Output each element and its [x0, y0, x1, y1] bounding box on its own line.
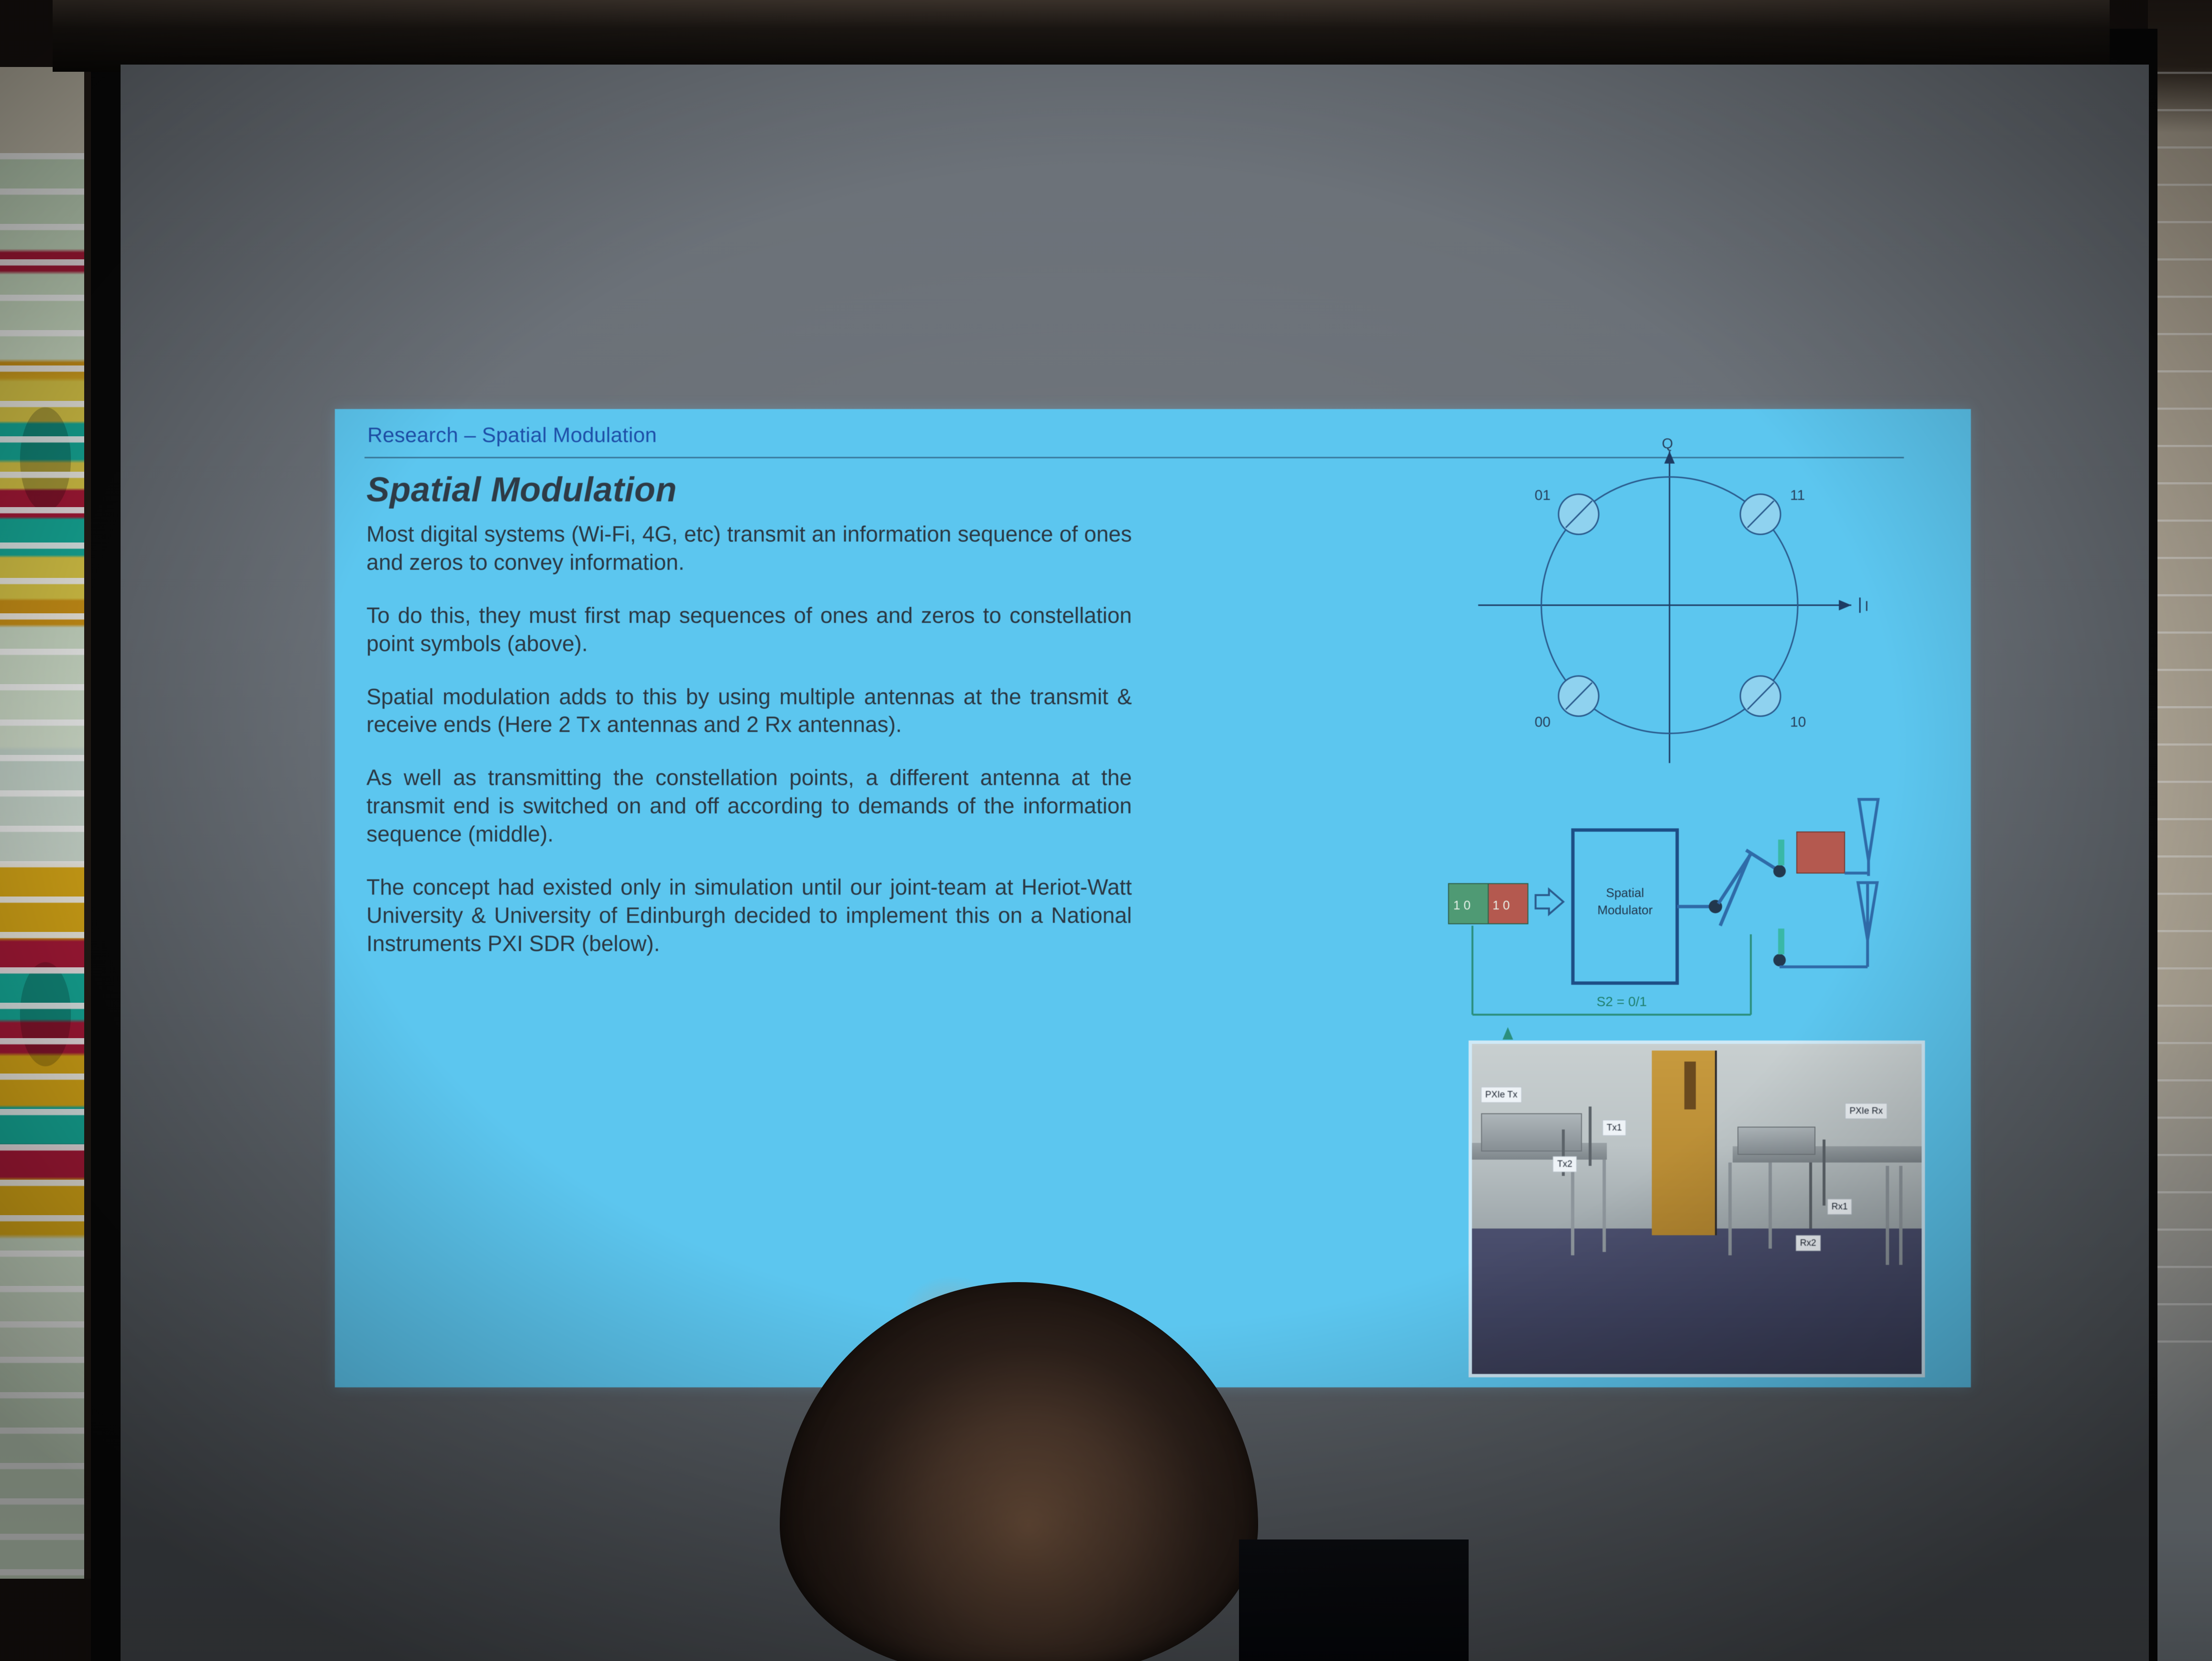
lab-floor [1472, 1229, 1922, 1374]
paragraph-2: To do this, they must first map sequence… [366, 601, 1132, 658]
paragraph-4: As well as transmitting the constellatio… [366, 764, 1132, 848]
constellation-label-11: 11 [1790, 487, 1805, 503]
lab-label-rx2: Rx2 [1796, 1235, 1821, 1251]
photo-scene: Research – Spatial Modulation Spatial Mo… [0, 0, 2212, 1661]
lab-rack-tx [1481, 1113, 1582, 1152]
axis-i-label: I [1865, 598, 1869, 614]
laptop-screen [1239, 1539, 1469, 1661]
slide-eyebrow: Research – Spatial Modulation [367, 423, 657, 447]
spatial-modulator-box: Spatial Modulator [1573, 830, 1677, 983]
window-blinds-right [2149, 72, 2212, 1363]
lab-label-pxie-rx: PXIe Rx [1845, 1103, 1887, 1119]
lab-door [1652, 1051, 1717, 1235]
lab-antenna-tx1 [1589, 1107, 1592, 1166]
lab-bench-leg [1886, 1166, 1889, 1265]
paragraph-3: Spatial modulation adds to this by using… [366, 683, 1132, 739]
modulator-label-line1: Spatial [1606, 886, 1644, 900]
tx-antenna-top [1773, 799, 1878, 877]
lab-label-tx1: Tx1 [1603, 1120, 1626, 1136]
projection-screen-case [53, 0, 2110, 72]
constellation-label-00: 00 [1535, 714, 1550, 730]
window-blinds [0, 153, 91, 1579]
axis-i-arrow [1839, 600, 1851, 610]
svg-text:1 0: 1 0 [1493, 898, 1510, 912]
control-arrow-icon [1503, 1027, 1513, 1040]
axis-q-arrow [1664, 451, 1675, 464]
svg-text:1 0: 1 0 [1453, 898, 1471, 912]
lab-rack-rx [1737, 1127, 1816, 1155]
window-header [0, 67, 91, 153]
input-bitstream: 1 01 0 [1449, 884, 1528, 924]
slide-body: Most digital systems (Wi-Fi, 4G, etc) tr… [366, 520, 1132, 983]
lab-label-pxie-tx: PXIe Tx [1481, 1087, 1522, 1103]
constellation-diagram: Q I 01 11 00 10 [1469, 438, 1880, 773]
lab-bench-leg [1899, 1166, 1902, 1265]
slide-title: Spatial Modulation [366, 470, 677, 509]
lab-bench-leg [1603, 1160, 1606, 1252]
input-arrow-icon [1536, 889, 1563, 914]
stained-glass-window [0, 67, 91, 1579]
rf-switch [1677, 850, 1780, 926]
lab-bench-leg [1769, 1163, 1772, 1248]
lab-antenna-rx1 [1823, 1140, 1825, 1206]
lab-label-tx2: Tx2 [1553, 1156, 1577, 1172]
presentation-slide: Research – Spatial Modulation Spatial Mo… [335, 409, 1971, 1387]
tx-antenna-bottom [1773, 883, 1877, 967]
modulator-label-line2: Modulator [1597, 903, 1653, 917]
constellation-label-01: 01 [1535, 487, 1550, 503]
axis-q-label: Q [1662, 438, 1673, 452]
switch-label: S2 = 0/1 [1596, 994, 1647, 1009]
spatial-modulator-block-diagram: 1 01 0 Spatial Modulator [1445, 782, 1885, 1050]
lab-photograph: PXIe Tx Tx1 Tx2 PXIe Rx Rx1 Rx2 [1469, 1041, 1925, 1377]
lab-label-rx1: Rx1 [1827, 1199, 1852, 1215]
paragraph-5: The concept had existed only in simulati… [366, 873, 1132, 958]
lab-antenna-rx2 [1809, 1163, 1812, 1229]
lab-bench-leg [1728, 1163, 1732, 1255]
lab-bench-leg [1571, 1160, 1574, 1255]
paragraph-1: Most digital systems (Wi-Fi, 4G, etc) tr… [366, 520, 1132, 576]
constellation-label-10: 10 [1790, 714, 1806, 730]
